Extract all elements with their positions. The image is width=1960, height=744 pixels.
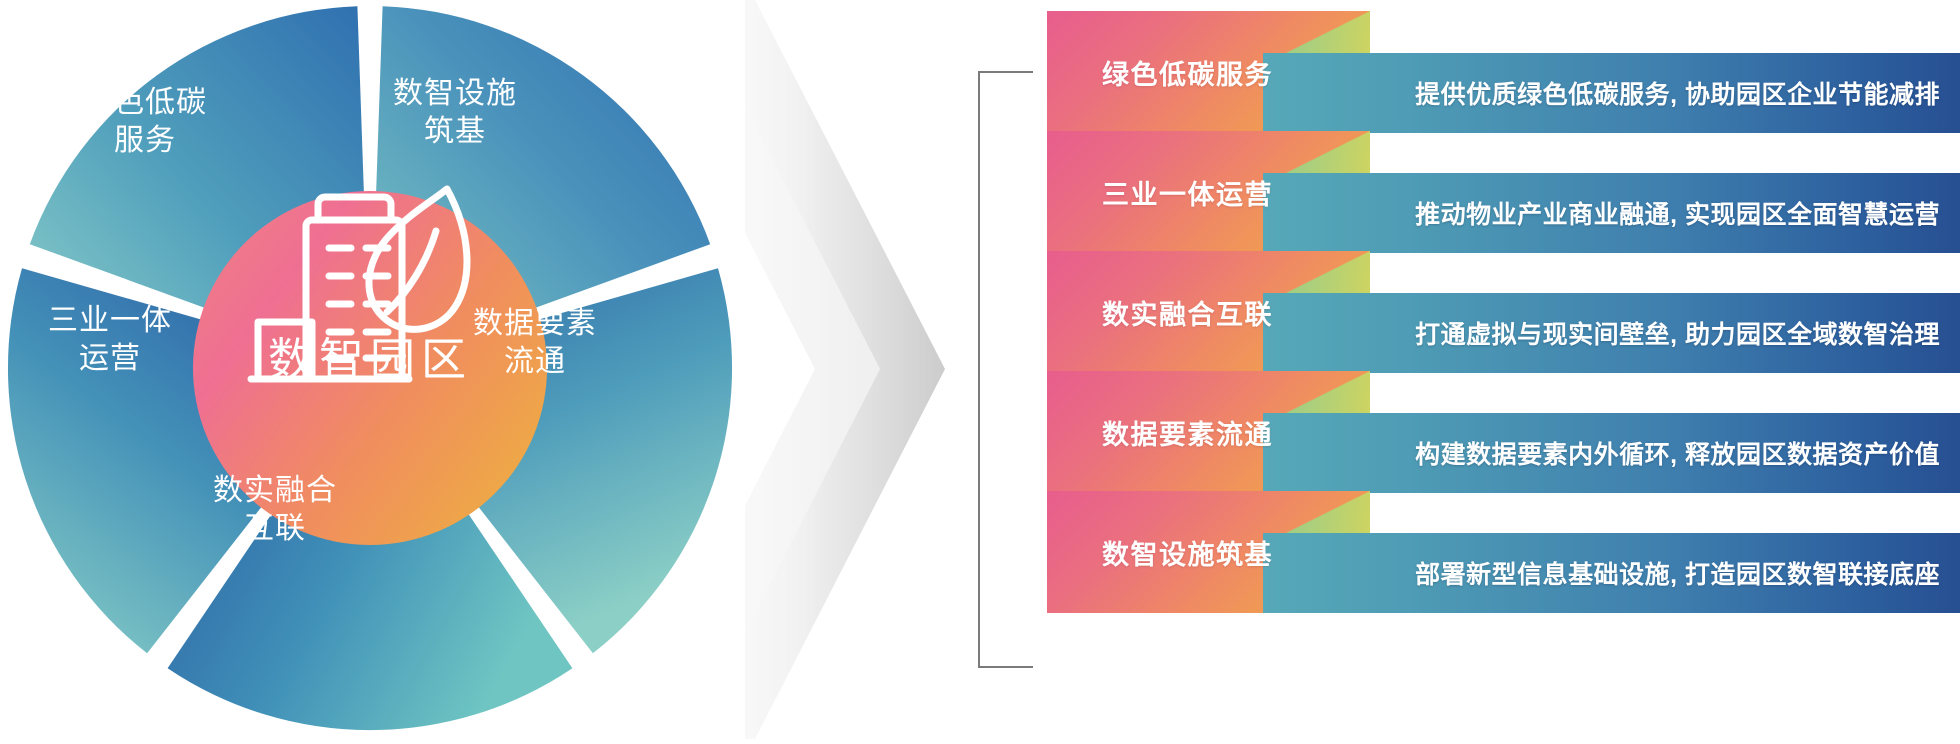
pillar-desc: 打通虚拟与现实间壁垒, 助力园区全域数智治理 [1415,315,1960,351]
pillar-desc: 推动物业产业商业融通, 实现园区全面智慧运营 [1415,195,1960,231]
pillar-desc-block[interactable]: 打通虚拟与现实间壁垒, 助力园区全域数智治理 [1263,293,1960,373]
hub-title: 数智园区 [210,323,530,388]
pillar-desc: 部署新型信息基础设施, 打造园区数智联接底座 [1415,555,1960,591]
donut-chart: 数智设施 筑基 数据要素 流通 数实融合 互联 三业一体 运营 绿色低碳 服务 … [0,0,745,739]
pillar-row[interactable]: 数实融合互联 打通虚拟与现实间壁垒, 助力园区全域数智治理 [1040,251,1960,373]
pillar-row[interactable]: 数据要素流通 构建数据要素内外循环, 释放园区数据资产价值 [1040,371,1960,493]
pillar-desc-block[interactable]: 提供优质绿色低碳服务, 协助园区企业节能减排 [1263,53,1960,133]
pillar-title: 数据要素流通 [1102,413,1273,452]
pillar-title: 数实融合互联 [1102,293,1273,332]
pillar-desc: 提供优质绿色低碳服务, 协助园区企业节能减排 [1415,75,1960,111]
pillar-row[interactable]: 绿色低碳服务 提供优质绿色低碳服务, 协助园区企业节能减排 [1040,11,1960,133]
pillar-desc-block[interactable]: 部署新型信息基础设施, 打造园区数智联接底座 [1263,533,1960,613]
pillar-title: 绿色低碳服务 [1102,53,1273,92]
pillar-desc: 构建数据要素内外循环, 释放园区数据资产价值 [1415,435,1960,471]
pillar-rows: 绿色低碳服务 提供优质绿色低碳服务, 协助园区企业节能减排 三业一体运营 推动物… [1040,0,1960,739]
infographic-canvas: 数智设施 筑基 数据要素 流通 数实融合 互联 三业一体 运营 绿色低碳 服务 … [0,0,1960,739]
pillar-desc-block[interactable]: 构建数据要素内外循环, 释放园区数据资产价值 [1263,413,1960,493]
square-bracket-connector [979,72,1033,667]
pillar-title: 数智设施筑基 [1102,533,1273,572]
pillar-row[interactable]: 数智设施筑基 部署新型信息基础设施, 打造园区数智联接底座 [1040,491,1960,613]
pillar-title: 三业一体运营 [1102,173,1273,212]
connector-svg [745,0,1045,739]
pillar-desc-block[interactable]: 推动物业产业商业融通, 实现园区全面智慧运营 [1263,173,1960,253]
pillar-row[interactable]: 三业一体运营 推动物业产业商业融通, 实现园区全面智慧运营 [1040,131,1960,253]
connector-area [745,0,1045,739]
